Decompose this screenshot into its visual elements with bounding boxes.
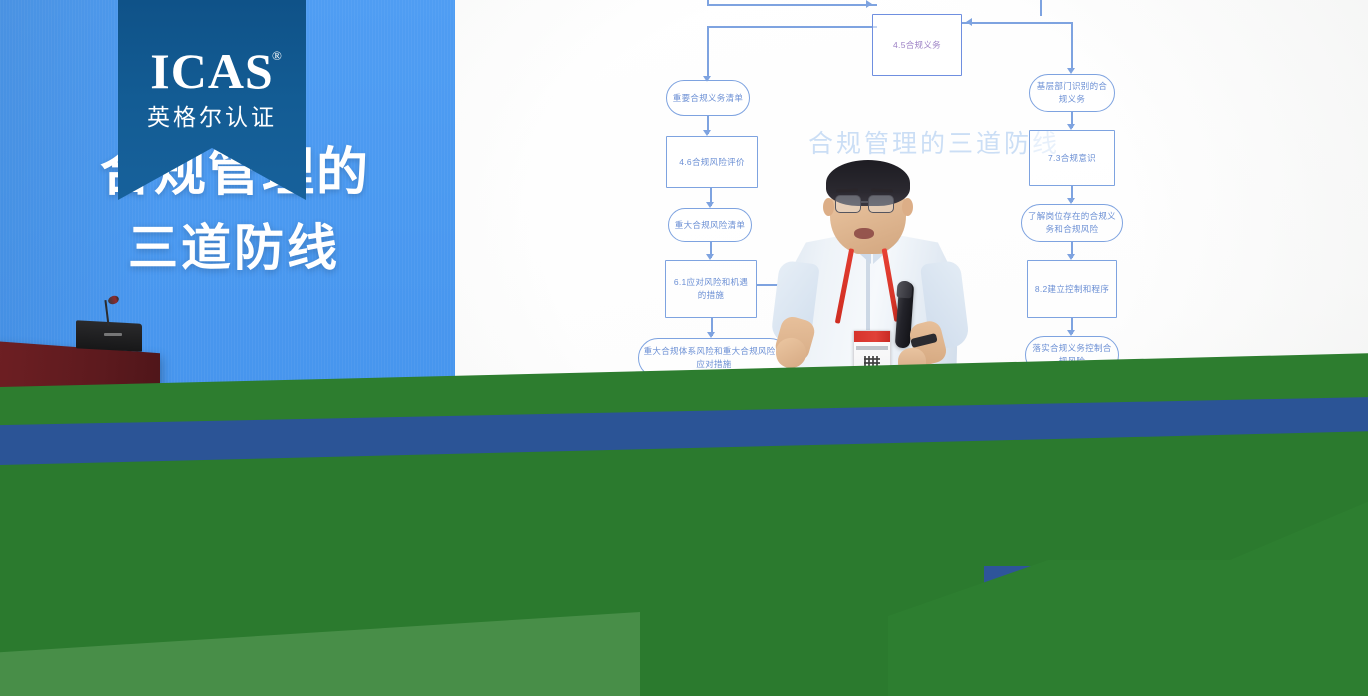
flow-line [1040, 0, 1042, 16]
flow-line [1071, 22, 1073, 70]
badge-header [854, 331, 890, 342]
flow-line [707, 26, 877, 28]
flow-line [707, 26, 709, 78]
flow-node-know-obligations: 了解岗位存在的合规义务和合规风险 [1021, 204, 1123, 242]
flow-node-major-risk-list: 重大合规风险清单 [668, 208, 752, 242]
speaker-ear-left [823, 198, 834, 216]
presentation-photo: 合规管理的 三道防线 ICAS ® 英格尔认证 合规管理的三道防线 4.5合规义… [0, 0, 1368, 696]
speaker-mouth [854, 228, 874, 239]
podium-control-strip [104, 333, 122, 336]
flow-node-73: 7.3合规意识 [1029, 130, 1115, 186]
glasses-bridge [861, 201, 868, 203]
flow-node-dept-obligations: 基层部门识别的合规义务 [1029, 74, 1115, 112]
glasses-lens-left [835, 195, 861, 213]
flow-node-45: 4.5合规义务 [872, 14, 962, 76]
flow-node-82: 8.2建立控制和程序 [1027, 260, 1117, 318]
flow-node-important-obligations: 重要合规义务清单 [666, 80, 750, 116]
flow-node-46: 4.6合规风险评价 [666, 136, 758, 188]
flow-node-61: 6.1应对风险和机遇的措施 [665, 260, 757, 318]
flow-line [962, 22, 1072, 24]
flow-line [707, 4, 877, 6]
flow-arrow-icon [866, 0, 872, 8]
flow-arrow-icon [966, 18, 972, 26]
glasses-lens-right [868, 195, 894, 213]
speaker-ear-right [902, 198, 913, 216]
badge-name-text [856, 346, 888, 350]
microphone-grille [896, 280, 912, 298]
